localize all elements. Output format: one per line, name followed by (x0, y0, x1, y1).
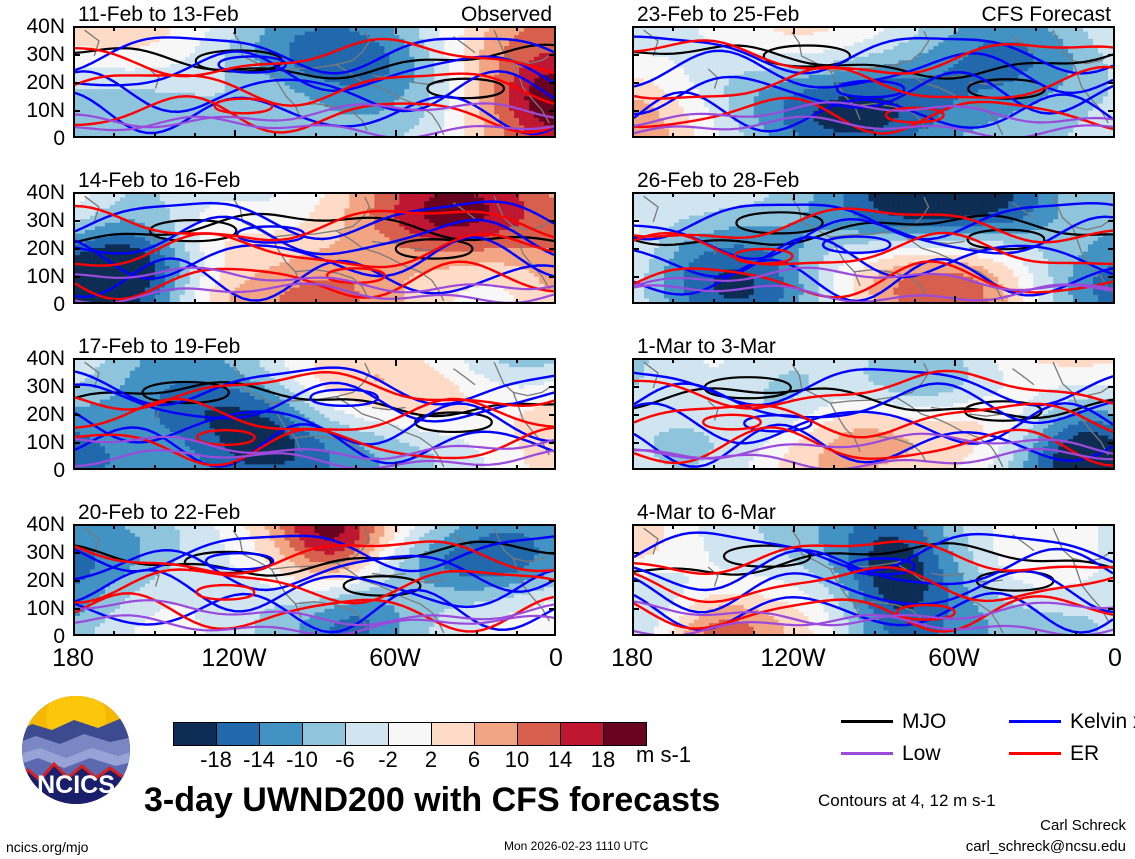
y-axis-label: 20N (0, 72, 65, 93)
y-axis-label: 40N (0, 16, 65, 37)
site-url[interactable]: ncics.org/mjo (6, 840, 88, 854)
colorbar-swatch (518, 723, 561, 745)
y-axis-label: 0 (0, 294, 65, 315)
colorbar-swatch (432, 723, 475, 745)
colorbar-swatch (174, 723, 217, 745)
panel-title: 20-Feb to 22-Feb (78, 502, 240, 523)
colorbar (173, 722, 647, 746)
legend-item: MJO (841, 711, 946, 732)
y-axis-label: 10N (0, 100, 65, 121)
y-axis-label: 10N (0, 598, 65, 619)
panel-plot (73, 358, 556, 470)
y-axis-label: 20N (0, 570, 65, 591)
colorbar-tick-label: 18 (573, 749, 633, 771)
contour-note: Contours at 4, 12 m s-1 (818, 792, 996, 809)
legend-label: MJO (902, 711, 946, 732)
y-axis-label: 20N (0, 404, 65, 425)
panel-plot (632, 26, 1115, 138)
panel-plot (632, 524, 1115, 636)
colorbar-swatch (475, 723, 518, 745)
x-axis-label: 0 (1055, 646, 1135, 671)
y-axis-label: 30N (0, 376, 65, 397)
legend-swatch-line (841, 720, 893, 723)
panel-title: 26-Feb to 28-Feb (637, 170, 799, 191)
legend-swatch-line (1009, 752, 1061, 755)
author-name: Carl Schreck (1040, 818, 1126, 833)
legend-item: Kelvin x2 (1009, 711, 1135, 732)
colorbar-unit-label: m s-1 (636, 744, 691, 766)
legend-label: ER (1070, 743, 1099, 764)
colorbar-swatch (303, 723, 346, 745)
panel-title: 4-Mar to 6-Mar (637, 502, 776, 523)
x-axis-label: 60W (894, 646, 1014, 671)
legend-swatch-line (1009, 720, 1061, 723)
legend-label: Low (902, 743, 941, 764)
legend-item: Low (841, 743, 941, 764)
colorbar-swatch (389, 723, 432, 745)
panel-plot (73, 524, 556, 636)
panel-plot (73, 26, 556, 138)
x-axis-label: 60W (335, 646, 455, 671)
ncics-logo: NCICS (14, 694, 138, 806)
column-header-right: CFS Forecast (632, 4, 1111, 25)
panel-plot (73, 192, 556, 304)
y-axis-label: 40N (0, 348, 65, 369)
y-axis-label: 20N (0, 238, 65, 259)
x-axis-label: 180 (572, 646, 692, 671)
colorbar-swatch (217, 723, 260, 745)
column-header-left: Observed (73, 4, 552, 25)
legend-swatch-line (841, 752, 893, 755)
legend-label: Kelvin x2 (1070, 711, 1135, 732)
y-axis-label: 10N (0, 432, 65, 453)
y-axis-label: 0 (0, 128, 65, 149)
colorbar-swatch (260, 723, 303, 745)
panel-plot (632, 358, 1115, 470)
x-axis-label: 120W (733, 646, 853, 671)
main-title: 3-day UWND200 with CFS forecasts (144, 783, 720, 817)
logo-label: NCICS (37, 771, 115, 799)
colorbar-swatch (561, 723, 604, 745)
colorbar-swatch (346, 723, 389, 745)
y-axis-label: 30N (0, 210, 65, 231)
y-axis-label: 30N (0, 44, 65, 65)
y-axis-label: 30N (0, 542, 65, 563)
timestamp: Mon 2026-02-23 1110 UTC (504, 840, 648, 852)
panel-plot (632, 192, 1115, 304)
panel-title: 17-Feb to 19-Feb (78, 336, 240, 357)
panel-title: 1-Mar to 3-Mar (637, 336, 776, 357)
y-axis-label: 10N (0, 266, 65, 287)
y-axis-label: 40N (0, 514, 65, 535)
legend-item: ER (1009, 743, 1099, 764)
panel-title: 14-Feb to 16-Feb (78, 170, 240, 191)
x-axis-label: 180 (13, 646, 133, 671)
y-axis-label: 40N (0, 182, 65, 203)
y-axis-label: 0 (0, 460, 65, 481)
x-axis-label: 120W (174, 646, 294, 671)
author-email: carl_schreck@ncsu.edu (966, 839, 1126, 854)
